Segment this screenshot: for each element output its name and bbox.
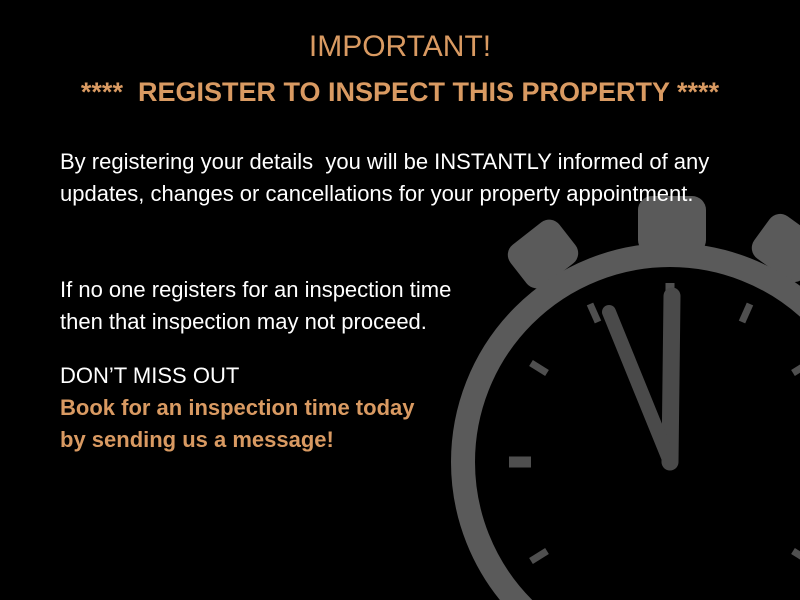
cta-line-book-inspection: Book for an inspection time today [60,392,580,424]
cta-line-dont-miss-out: DON’T MISS OUT [60,360,580,392]
slide-canvas: IMPORTANT! **** REGISTER TO INSPECT THIS… [0,0,800,600]
call-to-action-block: DON’T MISS OUT Book for an inspection ti… [60,360,580,456]
page-title: IMPORTANT! [0,30,800,64]
cta-line-send-message: by sending us a message! [60,424,580,456]
paragraph-inspection-warning: If no one registers for an inspection ti… [60,274,580,338]
text-layer: IMPORTANT! **** REGISTER TO INSPECT THIS… [0,0,800,600]
paragraph-registration-benefit: By registering your details you will be … [60,146,720,210]
page-subtitle: **** REGISTER TO INSPECT THIS PROPERTY *… [0,76,800,108]
